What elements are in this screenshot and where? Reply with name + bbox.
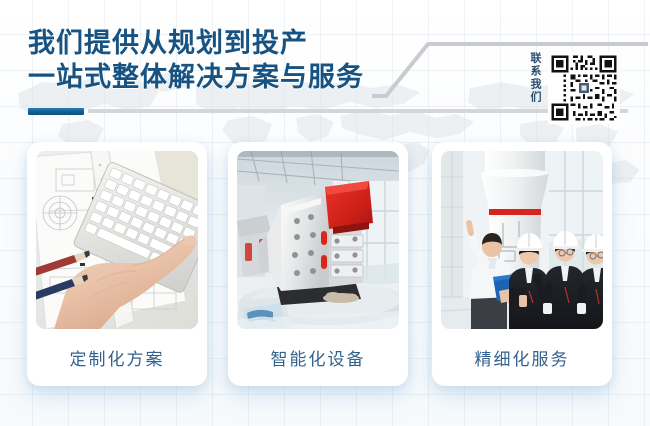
headline-line-1: 我们提供从规划到投产 — [28, 26, 448, 60]
accent-bar — [28, 108, 84, 115]
feature-card-smart-equipment[interactable]: 智能化设备 — [228, 142, 408, 386]
feature-card-custom-solution[interactable]: 定制化方案 — [27, 142, 207, 386]
feature-card-refined-service[interactable]: 精细化服务 — [432, 142, 612, 386]
card-label-custom-solution: 定制化方案 — [70, 329, 165, 386]
card-label-refined-service: 精细化服务 — [475, 329, 570, 386]
contact-block[interactable]: 联系我们 — [527, 52, 620, 124]
qr-code-icon[interactable] — [548, 52, 620, 124]
contact-label: 联系我们 — [527, 52, 542, 124]
card-photo-crusher-machine — [237, 151, 399, 329]
card-photo-blueprint-keyboard — [36, 151, 198, 329]
card-label-smart-equipment: 智能化设备 — [271, 329, 366, 386]
card-photo-engineers-team — [441, 151, 603, 329]
headline: 我们提供从规划到投产 一站式整体解决方案与服务 — [28, 26, 448, 94]
headline-line-2: 一站式整体解决方案与服务 — [28, 60, 448, 94]
feature-card-row: 定制化方案 — [0, 142, 650, 392]
promo-banner: 我们提供从规划到投产 一站式整体解决方案与服务 联系我们 — [0, 0, 650, 426]
